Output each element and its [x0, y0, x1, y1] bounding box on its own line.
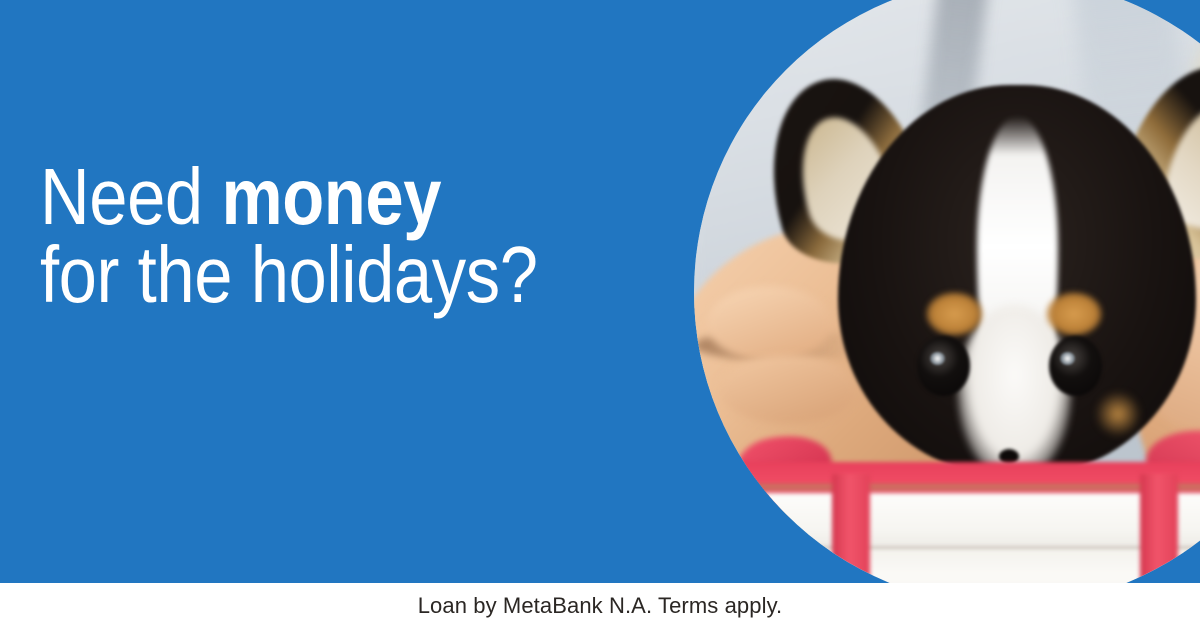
ribbon-vertical-right: [1140, 474, 1178, 583]
photo-clip-region: [0, 0, 1200, 583]
dog-eyebrow-right: [1046, 292, 1103, 336]
blue-background-panel: Need money for the holidays?: [0, 0, 1200, 583]
dog-eye-left: [917, 336, 970, 396]
disclaimer-text: Loan by MetaBank N.A. Terms apply.: [418, 593, 783, 619]
dog-cheek-tan-marking: [1096, 392, 1140, 436]
gift-box-body: [694, 549, 1200, 583]
footer-bar: Loan by MetaBank N.A. Terms apply.: [0, 583, 1200, 628]
circular-photo: [694, 0, 1200, 583]
ribbon-vertical-left: [832, 474, 870, 583]
promo-banner: Need money for the holidays? Loan by Met…: [0, 0, 1200, 628]
left-hand-knuckle-lower: [719, 355, 857, 424]
dog-eyebrow-left: [926, 292, 983, 336]
left-hand-knuckle-upper: [707, 286, 833, 361]
dog-eye-right: [1049, 336, 1102, 396]
dog-eye-glint-left: [930, 352, 945, 366]
